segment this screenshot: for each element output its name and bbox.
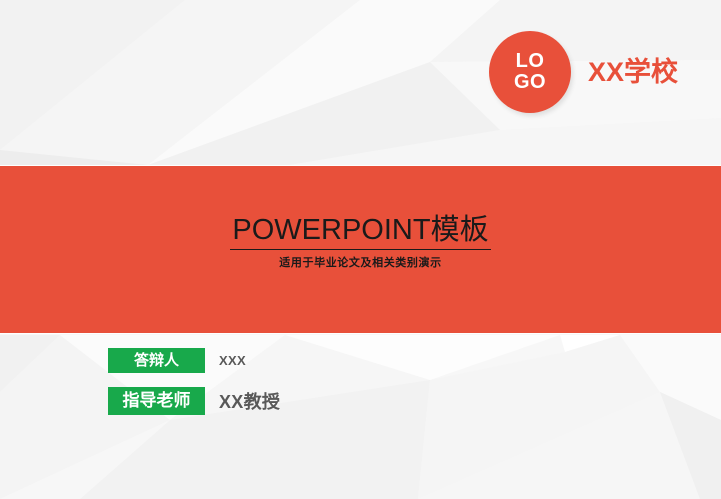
advisor-tag-label: 指导老师: [108, 387, 205, 415]
presenter-name-value: XXX: [219, 353, 246, 368]
presenter-row: 指导老师 XX教授: [108, 387, 508, 415]
logo-text-line2: GO: [514, 72, 546, 93]
logo-text-line1: LO: [516, 51, 545, 72]
presenter-row: 答辩人 XXX: [108, 348, 508, 373]
logo-text: LO GO: [489, 31, 571, 113]
page-subtitle: 适用于毕业论文及相关类别演示: [0, 256, 721, 270]
school-name-label: XX学校: [588, 50, 678, 89]
title-block: POWERPOINT模板 适用于毕业论文及相关类别演示: [0, 214, 721, 270]
page-title: POWERPOINT模板: [230, 214, 490, 250]
logo-circle-icon: LO GO: [489, 31, 571, 113]
presenter-info-block: 答辩人 XXX 指导老师 XX教授: [108, 348, 508, 415]
presentation-slide: LO GO XX学校 POWERPOINT模板 适用于毕业论文及相关类别演示 答…: [0, 0, 721, 499]
advisor-name-value: XX教授: [219, 388, 280, 414]
title-band: POWERPOINT模板 适用于毕业论文及相关类别演示: [0, 165, 721, 334]
slide-header: LO GO XX学校: [0, 0, 721, 165]
presenter-tag-label: 答辩人: [108, 348, 205, 373]
